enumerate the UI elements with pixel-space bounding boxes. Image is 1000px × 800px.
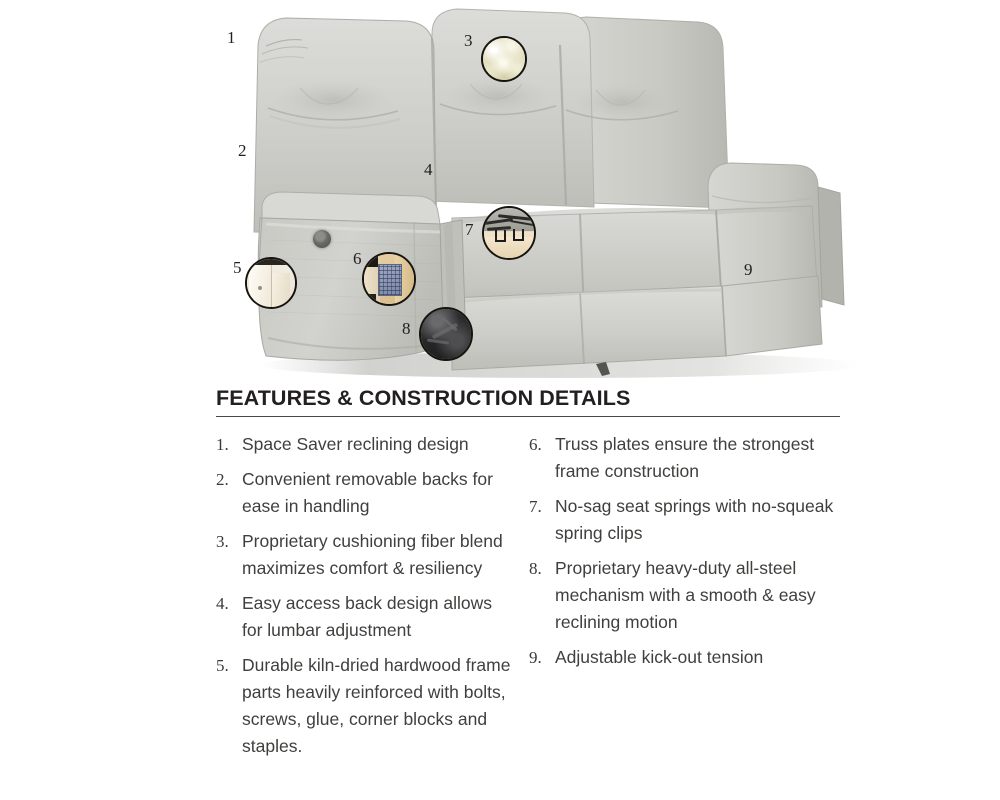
callout-5: 5 (233, 259, 242, 276)
list-item-text: Truss plates ensure the strongest frame … (555, 431, 842, 485)
list-item: 7. No-sag seat springs with no-squeak sp… (529, 493, 842, 547)
callout-1: 1 (227, 29, 236, 46)
list-item: 8. Proprietary heavy-duty all-steel mech… (529, 555, 842, 636)
callout-8: 8 (402, 320, 411, 337)
list-item-number: 6. (529, 431, 555, 485)
features-list-left: 1. Space Saver reclining design 2. Conve… (216, 431, 517, 760)
list-item: 6. Truss plates ensure the strongest fra… (529, 431, 842, 485)
list-item-number: 9. (529, 644, 555, 671)
list-item-text: Space Saver reclining design (242, 431, 469, 458)
cushioning-fiber-blend-inset (481, 36, 527, 82)
callout-6: 6 (353, 250, 362, 267)
section-heading: FEATURES & CONSTRUCTION DETAILS (216, 386, 840, 417)
list-item: 3. Proprietary cushioning fiber blend ma… (216, 528, 517, 582)
list-item-number: 7. (529, 493, 555, 547)
product-features-page: 1 2 3 4 5 6 7 8 9 FEATURES & CONSTRUCTIO… (0, 0, 1000, 800)
list-item-text: Easy access back design allows for lumba… (242, 590, 517, 644)
list-item-text: Proprietary cushioning fiber blend maxim… (242, 528, 517, 582)
hardwood-frame-inset (245, 257, 297, 309)
list-item-text: Adjustable kick-out tension (555, 644, 763, 671)
list-item-text: Convenient removable backs for ease in h… (242, 466, 517, 520)
no-sag-springs-inset (482, 206, 536, 260)
features-section: FEATURES & CONSTRUCTION DETAILS 1. Space… (216, 386, 842, 768)
callout-2: 2 (238, 142, 247, 159)
callout-3: 3 (464, 32, 473, 49)
list-item-number: 3. (216, 528, 242, 582)
list-item: 2. Convenient removable backs for ease i… (216, 466, 517, 520)
recliner-release-button[interactable] (313, 230, 331, 248)
list-item-number: 8. (529, 555, 555, 636)
list-item-number: 5. (216, 652, 242, 760)
features-list-right: 6. Truss plates ensure the strongest fra… (529, 431, 842, 671)
features-column-left: 1. Space Saver reclining design 2. Conve… (216, 431, 529, 768)
list-item-text: No-sag seat springs with no-squeak sprin… (555, 493, 842, 547)
callout-7: 7 (465, 221, 474, 238)
features-column-right: 6. Truss plates ensure the strongest fra… (529, 431, 842, 768)
list-item: 5. Durable kiln-dried hardwood frame par… (216, 652, 517, 760)
callout-4: 4 (424, 161, 433, 178)
truss-plate-inset (362, 252, 416, 306)
features-columns: 1. Space Saver reclining design 2. Conve… (216, 431, 842, 768)
list-item: 9. Adjustable kick-out tension (529, 644, 842, 671)
sofa-illustration: 1 2 3 4 5 6 7 8 9 (0, 0, 1000, 380)
callout-9: 9 (744, 261, 753, 278)
list-item-text: Proprietary heavy-duty all-steel mechani… (555, 555, 842, 636)
list-item-number: 1. (216, 431, 242, 458)
list-item: 4. Easy access back design allows for lu… (216, 590, 517, 644)
all-steel-mechanism-inset (419, 307, 473, 361)
list-item-text: Durable kiln-dried hardwood frame parts … (242, 652, 517, 760)
list-item: 1. Space Saver reclining design (216, 431, 517, 458)
list-item-number: 4. (216, 590, 242, 644)
list-item-number: 2. (216, 466, 242, 520)
